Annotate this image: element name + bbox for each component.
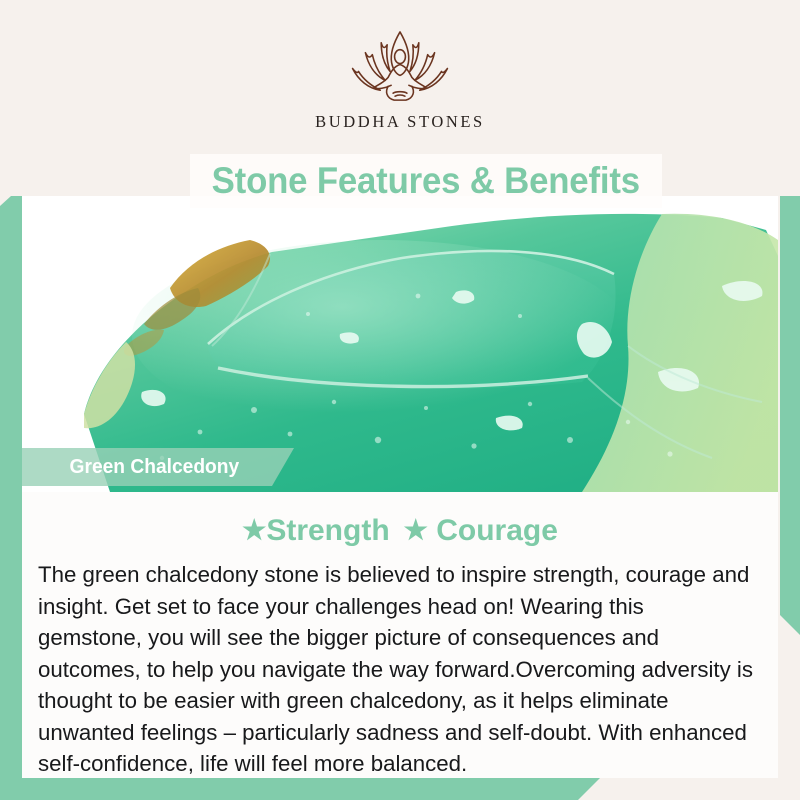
star-icon-strength: ★ xyxy=(242,515,266,545)
decorative-band-left xyxy=(0,186,22,800)
header-inner: BUDDHA STONES Stone Features & Benefits xyxy=(22,20,778,196)
keyword-strength: Strength xyxy=(266,514,389,547)
header: BUDDHA STONES Stone Features & Benefits xyxy=(0,0,800,196)
poster-root: BUDDHA STONES Stone Features & Benefits xyxy=(0,0,800,800)
page-title-band: Stone Features & Benefits xyxy=(190,154,662,208)
decorative-band-bottom-left xyxy=(0,778,600,800)
stone-name-text: Green Chalcedony xyxy=(70,456,240,479)
green-chalcedony-illustration xyxy=(22,196,778,492)
stone-photo: Green Chalcedony xyxy=(22,196,778,492)
brand-logo: BUDDHA STONES xyxy=(22,26,778,132)
brand-name: BUDDHA STONES xyxy=(315,112,485,132)
page-title: Stone Features & Benefits xyxy=(212,160,640,202)
star-icon-courage: ★ xyxy=(404,515,428,545)
lotus-meditation-figure-icon xyxy=(345,26,455,110)
keyword-courage: Courage xyxy=(436,514,558,547)
benefit-description: The green chalcedony stone is believed t… xyxy=(38,559,753,780)
content-panel: ★Strength★ Courage The green chalcedony … xyxy=(22,492,778,778)
stone-name-label: Green Chalcedony xyxy=(22,448,294,486)
benefit-keywords: ★Strength★ Courage xyxy=(22,514,778,548)
